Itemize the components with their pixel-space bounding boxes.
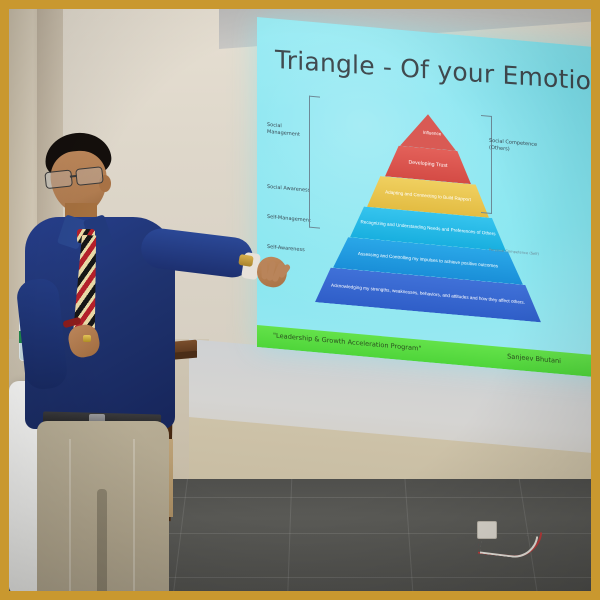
pyramid-tier-2-label: Developing Trust: [405, 159, 452, 169]
glasses-lens-right: [75, 166, 104, 186]
label-self-management: Self-Management: [267, 214, 311, 224]
bracket-right-upper: [481, 115, 492, 214]
label-self-awareness: Self-Awareness: [267, 244, 311, 254]
pyramid-tier-6-label: Acknowledging my strengths, weaknesses, …: [327, 283, 529, 306]
slide-title: Triangle - Of your Emotional Inte: [275, 45, 591, 102]
footer-program-title: "Leadership & Growth Acceleration Progra…: [273, 331, 422, 352]
pyramid-tier-3-label: Adapting and Connecting to Build Rapport: [381, 189, 475, 203]
trouser-leg-gap: [97, 489, 107, 591]
label-social-awareness: Social Awareness: [267, 184, 311, 194]
footer-presenter-name: Sanjeev Bhutani: [507, 352, 561, 365]
pyramid-tier-1: Influence: [400, 112, 456, 151]
projection-screen: Triangle - Of your Emotional Inte Influe…: [257, 17, 591, 378]
emotional-intelligence-pyramid: Influence Developing Trust Adapting and …: [313, 104, 543, 330]
finger-ring: [83, 335, 91, 342]
photo-frame: Triangle - Of your Emotional Inte Influe…: [0, 0, 600, 600]
photo-canvas: Triangle - Of your Emotional Inte Influe…: [9, 9, 591, 591]
trouser-crease: [69, 439, 71, 591]
pyramid-tier-4-label: Recognizing and Understanding Needs and …: [356, 219, 499, 237]
trouser-crease: [133, 439, 135, 591]
bracket-left-upper: [309, 96, 320, 229]
presenter: [21, 129, 241, 591]
floor-grout-line: [287, 479, 293, 591]
label-social-management: Social Management: [267, 122, 311, 139]
floor-grout-line: [404, 479, 414, 591]
pyramid-tier-5-label: Assessing and Controlling my impulses to…: [354, 251, 502, 270]
pyramid-tier-1-label: Influence: [402, 128, 462, 139]
wristwatch: [238, 254, 254, 267]
glasses-lens-left: [44, 169, 73, 189]
